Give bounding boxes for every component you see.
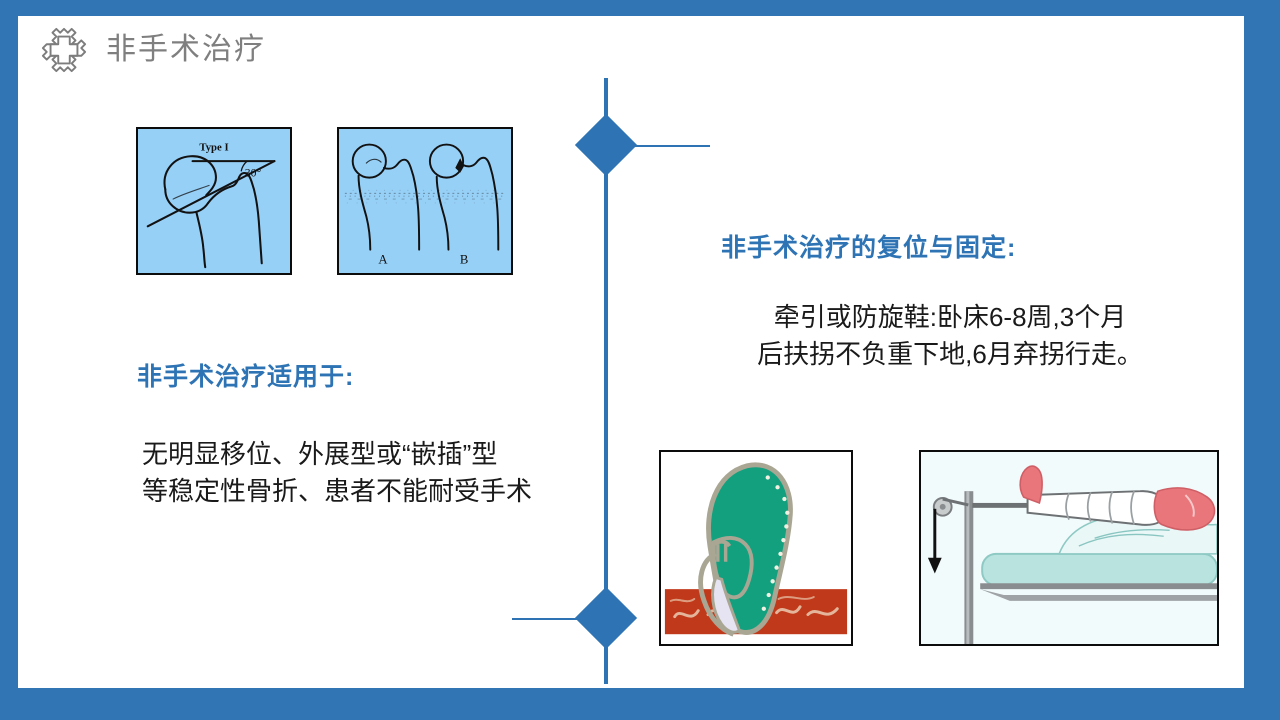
slide-canvas: 非手术治疗 Type I <box>18 16 1244 688</box>
angle-label: 30° <box>245 167 262 180</box>
skin-traction-bed-photo <box>919 450 1219 646</box>
right-section-body: 牵引或防旋鞋:卧床6-8周,3个月 后扶拐不负重下地,6月弃拐行走。 <box>730 299 1170 373</box>
right-section-heading: 非手术治疗的复位与固定: <box>721 228 1016 264</box>
connector-line-top-right <box>628 145 710 147</box>
hospital-quatrefoil-cross-icon <box>40 26 88 74</box>
slide-frame: 非手术治疗 Type I <box>0 0 1280 720</box>
figure-label-b: B <box>460 252 468 266</box>
slide-header: 非手术治疗 <box>40 26 266 74</box>
figure-caption: Type I <box>199 141 228 153</box>
figure-label-a: A <box>378 252 388 266</box>
cross-glyph <box>51 37 78 64</box>
anti-rotation-shoe-photo <box>659 450 853 646</box>
left-section-body: 无明显移位、外展型或“嵌插”型 等稳定性骨折、患者不能耐受手术 <box>142 436 572 510</box>
page-title: 非手术治疗 <box>106 35 266 65</box>
garden-type-1-diagram: Type I 30 <box>136 127 292 275</box>
left-section-heading: 非手术治疗适用于: <box>137 357 354 393</box>
connector-line-bottom-left <box>512 618 592 620</box>
femur-fracture-a-b-diagram: A B <box>337 127 513 275</box>
